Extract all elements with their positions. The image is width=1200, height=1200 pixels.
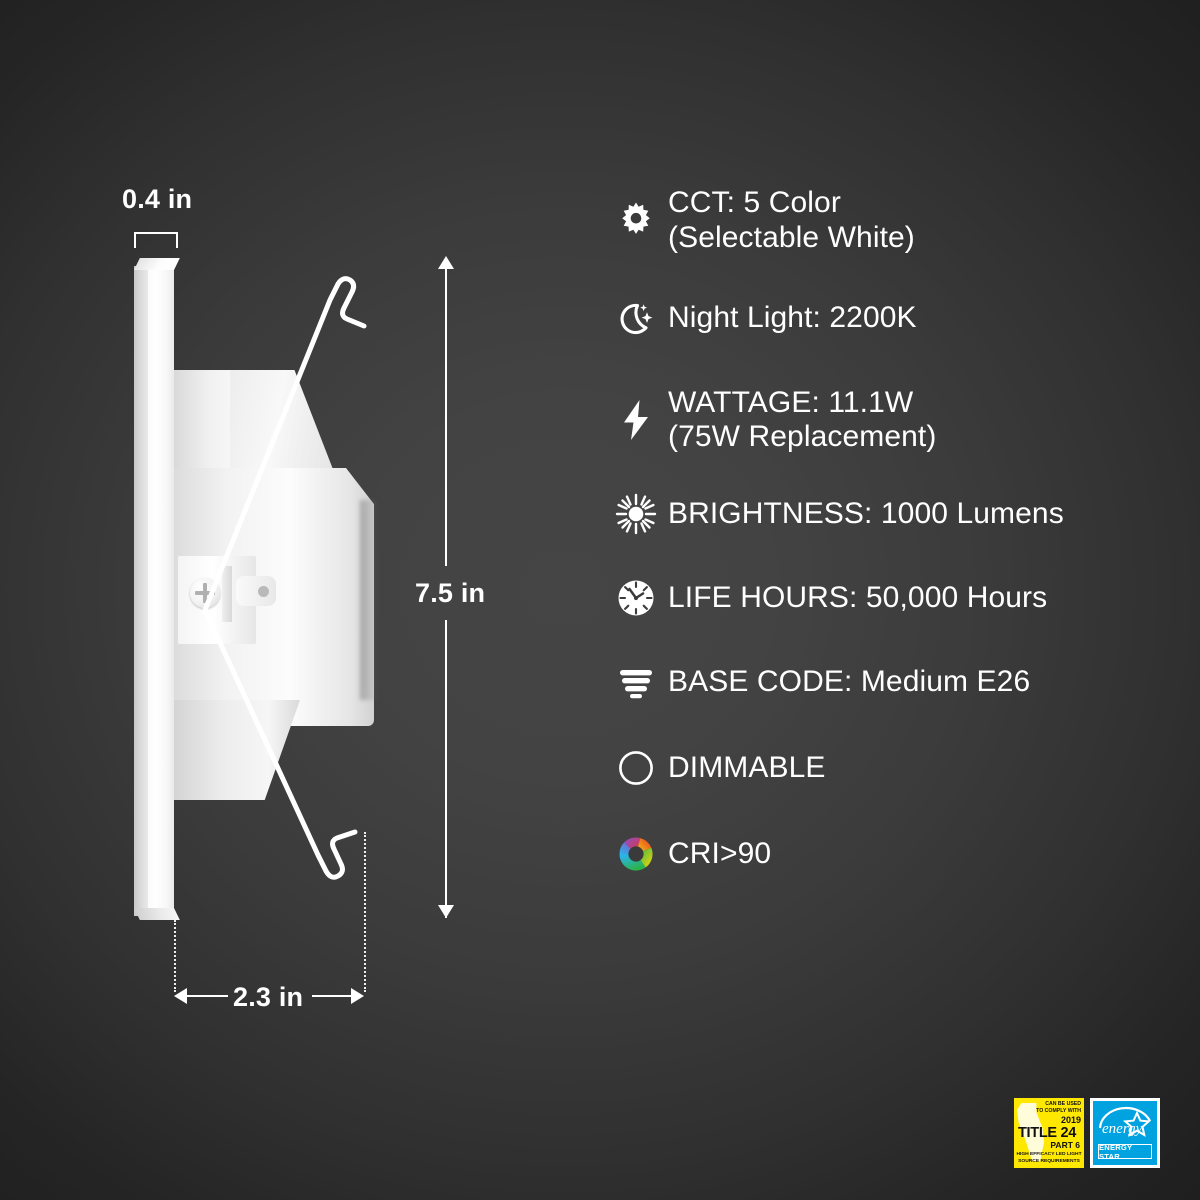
- spec-row-dimmable: DIMMABLE: [604, 739, 1164, 797]
- infographic-canvas: 0.4 in 7.5 in 2.3 in CCT: 5 Color: [0, 0, 1200, 1200]
- clock-gauge-icon: [604, 570, 668, 626]
- certification-badges: CAN BE USED TO COMPLY WITH 2019 TITLE 24…: [1014, 1098, 1160, 1168]
- spec-text-cri: CRI>90: [668, 837, 771, 872]
- title24-top-line1: CAN BE USED: [1036, 1101, 1081, 1108]
- dimension-label-thickness: 0.4 in: [122, 184, 192, 215]
- spec-text-brightness: BRIGHTNESS: 1000 Lumens: [668, 497, 1064, 532]
- dimension-label-height: 7.5 in: [415, 578, 485, 609]
- title24-bottom-line2: SOURCE REQUIREMENTS: [1014, 1159, 1084, 1165]
- spec-row-night-light: Night Light: 2200K: [604, 290, 1164, 348]
- arrow-down-icon: [438, 905, 454, 918]
- spec-cct-line2: (Selectable White): [668, 221, 915, 256]
- spec-night-line1: Night Light: 2200K: [668, 301, 917, 334]
- bracket-tab: [236, 576, 276, 606]
- spec-text-night-light: Night Light: 2200K: [668, 301, 917, 336]
- trim-plate-face: [148, 258, 174, 920]
- spec-dim-line1: DIMMABLE: [668, 751, 826, 784]
- spec-text-dimmable: DIMMABLE: [668, 751, 826, 786]
- extension-line-left: [174, 920, 176, 992]
- spec-text-cct: CCT: 5 Color (Selectable White): [668, 186, 915, 256]
- spec-row-wattage: WATTAGE: 11.1W (75W Replacement): [604, 386, 1164, 456]
- energy-star-mark-icon: energy: [1094, 1101, 1156, 1145]
- title24-top-line2: TO COMPLY WITH: [1036, 1108, 1081, 1115]
- product-illustration: [0, 0, 560, 1060]
- spec-text-life-hours: LIFE HOURS: 50,000 Hours: [668, 581, 1047, 616]
- sun-rays-icon: [604, 486, 668, 542]
- spec-watt-line1: WATTAGE: 11.1W: [668, 386, 913, 419]
- spec-bright-line1: BRIGHTNESS: 1000 Lumens: [668, 497, 1064, 530]
- housing-edge-shadow: [360, 500, 378, 700]
- spec-row-cri: CRI>90: [604, 825, 1164, 883]
- moon-stars-icon: [604, 291, 668, 347]
- spec-text-base-code: BASE CODE: Medium E26: [668, 665, 1030, 700]
- energy-star-badge: energy ENERGY STAR: [1090, 1098, 1160, 1168]
- title24-part: PART 6: [1050, 1140, 1080, 1150]
- title24-bottom-line1: HIGH EFFICACY LED LIGHT: [1014, 1152, 1084, 1158]
- spec-life-line1: LIFE HOURS: 50,000 Hours: [668, 581, 1047, 614]
- dimension-line-height-bottom: [445, 620, 447, 918]
- title24-top-text: CAN BE USED TO COMPLY WITH: [1036, 1101, 1081, 1115]
- specification-list: CCT: 5 Color (Selectable White) Night Li…: [604, 186, 1164, 893]
- spec-text-wattage: WATTAGE: 11.1W (75W Replacement): [668, 386, 936, 456]
- dimension-line-height-top: [445, 266, 447, 566]
- title24-bottom-text: HIGH EFFICACY LED LIGHT SOURCE REQUIREME…: [1014, 1152, 1084, 1165]
- dimension-line-depth-right: [312, 995, 354, 997]
- arrow-right-icon: [351, 988, 364, 1004]
- housing-lower-body: [174, 700, 300, 800]
- energy-star-inner: energy ENERGY STAR: [1093, 1101, 1157, 1165]
- title24-main: TITLE 24: [1018, 1125, 1076, 1141]
- title24-year: 2019: [1061, 1115, 1081, 1125]
- dimension-line-depth-left: [186, 995, 228, 997]
- trim-plate-top-cap: [134, 258, 180, 270]
- color-wheel-icon: [604, 826, 668, 882]
- trim-plate-bottom-cap: [134, 908, 180, 920]
- dimension-label-depth: 2.3 in: [233, 982, 303, 1013]
- energy-wordmark: energy: [1102, 1121, 1143, 1137]
- spec-cct-line1: CCT: 5 Color: [668, 186, 841, 219]
- spec-row-base-code: BASE CODE: Medium E26: [604, 653, 1164, 711]
- dimmer-circle-icon: [604, 740, 668, 796]
- spec-base-line1: BASE CODE: Medium E26: [668, 665, 1030, 698]
- title-24-badge: CAN BE USED TO COMPLY WITH 2019 TITLE 24…: [1014, 1098, 1084, 1168]
- extension-line-right: [364, 832, 366, 992]
- spec-row-cct: CCT: 5 Color (Selectable White): [604, 186, 1164, 256]
- sun-gear-icon: [604, 193, 668, 249]
- bracket-post: [222, 566, 232, 622]
- spec-row-life-hours: LIFE HOURS: 50,000 Hours: [604, 569, 1164, 627]
- spec-cri-line1: CRI>90: [668, 837, 771, 870]
- caliper-bracket-icon: [134, 232, 178, 248]
- lightning-bolt-icon: [604, 392, 668, 448]
- energy-star-label: ENERGY STAR: [1098, 1144, 1152, 1159]
- bulb-base-icon: [604, 654, 668, 710]
- spec-row-brightness: BRIGHTNESS: 1000 Lumens: [604, 485, 1164, 543]
- spec-watt-line2: (75W Replacement): [668, 420, 936, 455]
- phillips-screw-icon: [190, 578, 220, 608]
